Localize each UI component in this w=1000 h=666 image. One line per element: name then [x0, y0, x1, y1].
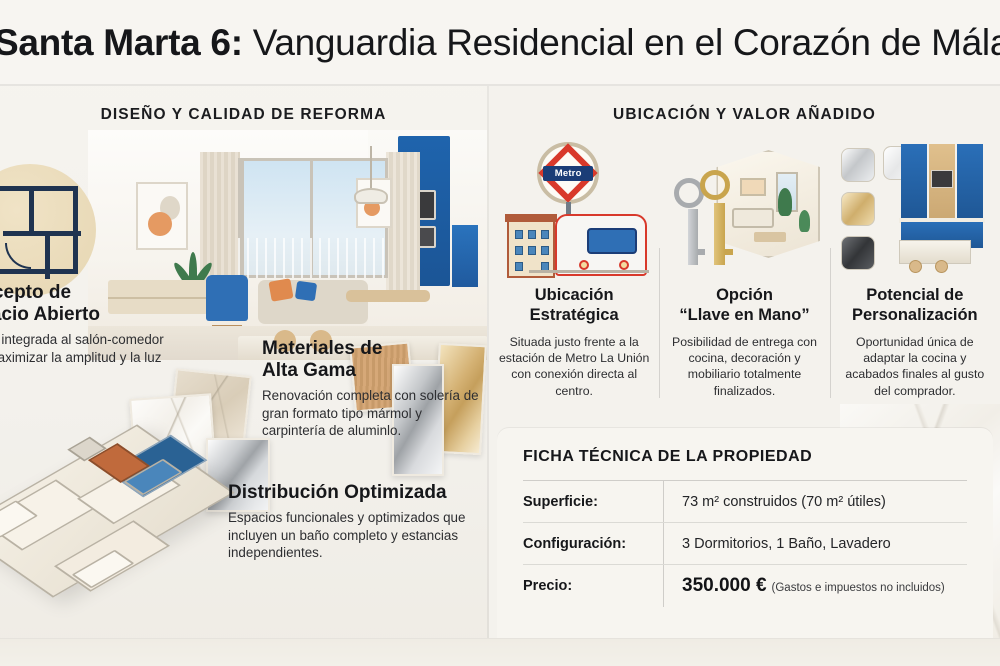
title-rest-part: Vanguardia Residencial en el Corazón de … — [243, 22, 1000, 63]
card-title: Opción “Llave en Mano” — [667, 286, 821, 326]
card-title-line2: Estratégica — [530, 306, 619, 324]
metro-illustration: Metro — [499, 142, 649, 280]
swatch-chip-dark — [841, 236, 875, 270]
spec-label: Configuración: — [523, 536, 663, 552]
gold-key-icon — [700, 170, 730, 200]
spec-row-price: Precio: 350.000 €(Gastos e impuestos no … — [523, 565, 967, 607]
building-window — [515, 246, 523, 255]
building-window — [541, 246, 549, 255]
feature-open-concept: Concepto de Espacio Abierto Cocina integ… — [0, 282, 166, 384]
room-coffee-table — [754, 232, 786, 242]
materials-kitchen-icon — [838, 136, 992, 276]
room-wall-art — [740, 178, 766, 196]
spec-label: Superficie: — [523, 494, 663, 510]
feature-body: Renovación completa con solería de gran … — [262, 387, 484, 440]
isometric-room-icon — [716, 150, 820, 258]
feature-optimized-layout: Distribución Optimizada Espacios funcion… — [228, 482, 484, 562]
card-title-line1: Ubicación — [535, 286, 614, 304]
train-headlight — [619, 260, 629, 270]
swatch-chip-gold — [841, 192, 875, 226]
spec-value: 3 Dormitorios, 1 Baño, Lavadero — [682, 536, 891, 552]
left-section-heading: DISEÑO Y CALIDAD DE REFORMA — [0, 106, 487, 124]
kitchen-island-block — [899, 240, 971, 264]
plan-inner-wall — [45, 231, 50, 279]
building-window — [541, 230, 549, 239]
building-window — [528, 230, 536, 239]
card-title: Ubicación Estratégica — [497, 286, 651, 326]
train-icon — [555, 214, 647, 276]
poster-bottom-strip — [0, 638, 1000, 666]
feature-body: Espacios funcionales y optimizados que i… — [228, 509, 484, 562]
feature-title: Materiales de Alta Gama — [262, 338, 484, 382]
card-body: Oportunidad única de adaptar la cocina y… — [838, 334, 992, 399]
room-sofa — [732, 208, 774, 228]
card-body: Posibilidad de entrega con cocina, decor… — [667, 334, 821, 399]
floor-plan-2d-icon — [0, 164, 96, 296]
right-section-heading: UBICACIÓN Y VALOR AÑADIDO — [489, 106, 1000, 124]
value-cards-row: Metro — [489, 136, 1000, 416]
building-window — [528, 246, 536, 255]
spec-label: Precio: — [523, 578, 663, 594]
page-title: Santa Marta 6: Vanguardia Residencial en… — [0, 24, 1000, 61]
spec-value: 73 m² construidos (70 m² útiles) — [682, 494, 886, 510]
spec-sheet-heading: FICHA TÉCNICA DE LA PROPIEDAD — [523, 448, 967, 481]
blue-cushion — [295, 281, 317, 302]
room-plant-small — [799, 210, 810, 232]
pendant-lamp-cord — [370, 146, 372, 190]
materials-illustration — [837, 140, 993, 280]
metro-wordmark: Metro — [543, 166, 593, 181]
pendant-lamp-shade — [354, 188, 388, 204]
orange-cushion — [268, 278, 293, 302]
balcony-railing — [238, 238, 388, 278]
card-body: Situada justo frente a la estación de Me… — [497, 334, 651, 399]
building-roof — [505, 214, 557, 222]
feature-title-line2: Espacio Abierto — [0, 304, 100, 325]
art-shape-b — [148, 212, 172, 236]
card-title-line2: Personalización — [852, 306, 978, 324]
spec-cell-divider — [663, 523, 664, 564]
feature-title: Concepto de Espacio Abierto — [0, 282, 166, 326]
floor-plan-3d-isometric — [0, 376, 260, 646]
plan-door-swing — [5, 243, 31, 269]
swatch-chip-silver — [841, 148, 875, 182]
card-title-line1: Potencial de — [866, 286, 963, 304]
blue-armchair — [206, 275, 248, 321]
card-title: Potencial de Personalización — [838, 286, 992, 326]
kitchen-cabinet-blue — [901, 144, 927, 220]
plan-outer-walls — [0, 186, 78, 274]
wall-art-left — [136, 182, 188, 250]
train-headlight — [579, 260, 589, 270]
spec-cell-divider — [663, 565, 664, 607]
feature-title-line1: Concepto de — [0, 282, 71, 303]
kitchen-cabinet-blue — [957, 144, 983, 220]
card-turnkey-option: Opción “Llave en Mano” Posibilidad de en… — [659, 136, 829, 416]
price-value: 350.000 € — [682, 575, 767, 596]
feature-premium-materials: Materiales de Alta Gama Renovación compl… — [262, 338, 484, 440]
spec-cell-divider — [663, 481, 664, 522]
plan-inner-wall — [3, 231, 81, 236]
train-track — [529, 270, 649, 273]
building-window — [515, 262, 523, 271]
kitchen-oven — [931, 170, 953, 188]
dining-table — [346, 290, 430, 302]
spec-row-surface: Superficie: 73 m² construidos (70 m² úti… — [523, 481, 967, 523]
keys-room-icon — [667, 136, 821, 276]
plan-inner-wall — [29, 191, 34, 231]
card-customization-potential: Potencial de Personalización Oportunidad… — [830, 136, 1000, 416]
feature-title-line2: Alta Gama — [262, 360, 356, 381]
infographic-poster: Santa Marta 6: Vanguardia Residencial en… — [0, 0, 1000, 666]
design-quality-column: DISEÑO Y CALIDAD DE REFORMA — [0, 86, 487, 666]
key-bit — [723, 249, 733, 255]
poster-header: Santa Marta 6: Vanguardia Residencial en… — [0, 0, 1000, 84]
key-bit — [696, 249, 705, 255]
property-spec-sheet: FICHA TÉCNICA DE LA PROPIEDAD Superficie… — [497, 428, 993, 644]
building-window — [515, 230, 523, 239]
feature-title-line1: Materiales de — [262, 338, 382, 359]
kitchen-stool — [909, 260, 922, 273]
title-bold-part: Santa Marta 6: — [0, 22, 243, 63]
feature-title: Distribución Optimizada — [228, 482, 484, 504]
spec-price-cell: 350.000 €(Gastos e impuestos no incluido… — [682, 575, 945, 597]
card-title-line2: “Llave en Mano” — [679, 306, 809, 324]
train-windshield — [587, 228, 637, 254]
kitchen-stool — [935, 260, 948, 273]
metro-station-icon: Metro — [497, 136, 651, 276]
price-note: (Gastos e impuestos no incluidos) — [772, 582, 945, 594]
room-plant — [778, 188, 792, 216]
card-title-line1: Opción — [716, 286, 773, 304]
kitchen-isometric-icon — [893, 140, 993, 280]
location-value-column: UBICACIÓN Y VALOR AÑADIDO Metro — [489, 86, 1000, 666]
card-strategic-location: Metro — [489, 136, 659, 416]
spec-row-configuration: Configuración: 3 Dormitorios, 1 Baño, La… — [523, 523, 967, 565]
keys-illustration — [664, 144, 824, 272]
blue-kitchen-cabinet-lower — [452, 225, 478, 287]
